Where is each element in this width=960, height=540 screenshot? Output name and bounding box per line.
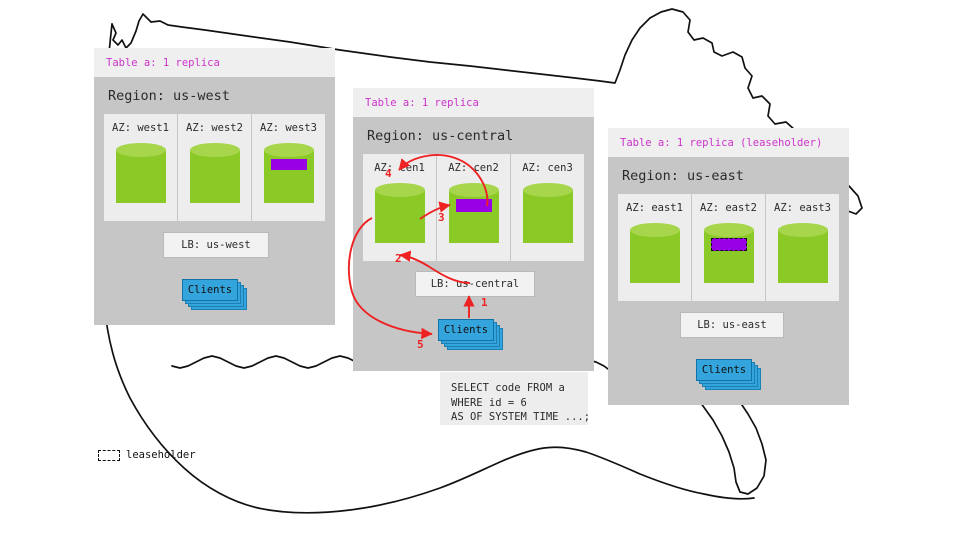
cylinder-top — [449, 183, 499, 197]
load-balancer-us-east[interactable]: LB: us-east — [680, 312, 784, 338]
az-east1[interactable]: AZ: east1 — [618, 194, 692, 301]
az-row-us-east: AZ: east1 AZ: east2 AZ: east3 — [618, 194, 839, 301]
az-label-east3: AZ: east3 — [774, 202, 831, 214]
az-label-west3: AZ: west3 — [260, 122, 317, 134]
cylinder-west1 — [116, 143, 166, 207]
cylinder-west2 — [190, 143, 240, 207]
leaseholder-swatch-icon — [98, 450, 120, 461]
clients-stack-us-east[interactable]: Clients — [696, 359, 764, 392]
region-name-us-east: Region: us-east — [608, 157, 849, 194]
az-label-cen1: AZ: cen1 — [374, 162, 425, 174]
az-row-us-central: AZ: cen1 AZ: cen2 AZ: cen3 — [363, 154, 584, 261]
az-cen1[interactable]: AZ: cen1 — [363, 154, 437, 261]
cylinder-top — [523, 183, 573, 197]
az-label-west1: AZ: west1 — [112, 122, 169, 134]
az-label-east2: AZ: east2 — [700, 202, 757, 214]
cylinder-cen2 — [449, 183, 499, 247]
cylinder-west3 — [264, 143, 314, 207]
az-east3[interactable]: AZ: east3 — [766, 194, 839, 301]
cylinder-body — [523, 190, 573, 243]
sql-query-box: SELECT code FROM a WHERE id = 6 AS OF SY… — [440, 372, 588, 425]
cylinder-body — [264, 150, 314, 203]
az-cen3[interactable]: AZ: cen3 — [511, 154, 584, 261]
cylinder-cen1 — [375, 183, 425, 247]
cylinder-east1 — [630, 223, 680, 287]
clients-label-us-east[interactable]: Clients — [696, 359, 752, 381]
cylinder-top — [190, 143, 240, 157]
region-title-us-central: Table a: 1 replica — [353, 88, 594, 117]
region-name-us-west: Region: us-west — [94, 77, 335, 114]
cylinder-top — [630, 223, 680, 237]
cylinder-body — [449, 190, 499, 243]
cylinder-body — [190, 150, 240, 203]
region-panel-us-east: Table a: 1 replica (leaseholder) Region:… — [608, 128, 849, 405]
cylinder-top — [778, 223, 828, 237]
az-label-cen2: AZ: cen2 — [448, 162, 499, 174]
arrow-number-1: 1 — [481, 296, 488, 309]
cylinder-body — [116, 150, 166, 203]
clients-label-us-west[interactable]: Clients — [182, 279, 238, 301]
az-west1[interactable]: AZ: west1 — [104, 114, 178, 221]
leaseholder-block-east2 — [711, 238, 747, 251]
region-name-us-central: Region: us-central — [353, 117, 594, 154]
cylinder-top — [704, 223, 754, 237]
cylinder-body — [630, 230, 680, 283]
clients-stack-us-west[interactable]: Clients — [182, 279, 250, 312]
az-row-us-west: AZ: west1 AZ: west2 AZ: west3 — [104, 114, 325, 221]
az-label-west2: AZ: west2 — [186, 122, 243, 134]
clients-stack-us-central[interactable]: Clients — [438, 319, 506, 352]
arrow-number-3: 3 — [438, 211, 445, 224]
diagram-canvas: Table a: 1 replica Region: us-west AZ: w… — [0, 0, 960, 540]
region-title-us-west: Table a: 1 replica — [94, 48, 335, 77]
az-west3[interactable]: AZ: west3 — [252, 114, 325, 221]
load-balancer-us-central[interactable]: LB: us-central — [415, 271, 535, 297]
legend-label-leaseholder: leaseholder — [126, 449, 196, 461]
arrow-number-4: 4 — [385, 167, 392, 180]
region-panel-us-west: Table a: 1 replica Region: us-west AZ: w… — [94, 48, 335, 325]
arrow-number-2: 2 — [395, 252, 402, 265]
arrow-number-5: 5 — [417, 338, 424, 351]
cylinder-east2 — [704, 223, 754, 287]
cylinder-body — [778, 230, 828, 283]
load-balancer-us-west[interactable]: LB: us-west — [163, 232, 269, 258]
replica-block-cen2 — [456, 199, 492, 212]
az-east2[interactable]: AZ: east2 — [692, 194, 766, 301]
legend-leaseholder: leaseholder — [98, 449, 196, 461]
cylinder-east3 — [778, 223, 828, 287]
cylinder-top — [116, 143, 166, 157]
az-label-east1: AZ: east1 — [626, 202, 683, 214]
cylinder-body — [375, 190, 425, 243]
az-west2[interactable]: AZ: west2 — [178, 114, 252, 221]
cylinder-cen3 — [523, 183, 573, 247]
az-label-cen3: AZ: cen3 — [522, 162, 573, 174]
cylinder-top — [264, 143, 314, 157]
cylinder-top — [375, 183, 425, 197]
replica-block-west3 — [271, 159, 307, 170]
region-title-us-east: Table a: 1 replica (leaseholder) — [608, 128, 849, 157]
clients-label-us-central[interactable]: Clients — [438, 319, 494, 341]
region-panel-us-central: Table a: 1 replica Region: us-central AZ… — [353, 88, 594, 371]
az-cen2[interactable]: AZ: cen2 — [437, 154, 511, 261]
